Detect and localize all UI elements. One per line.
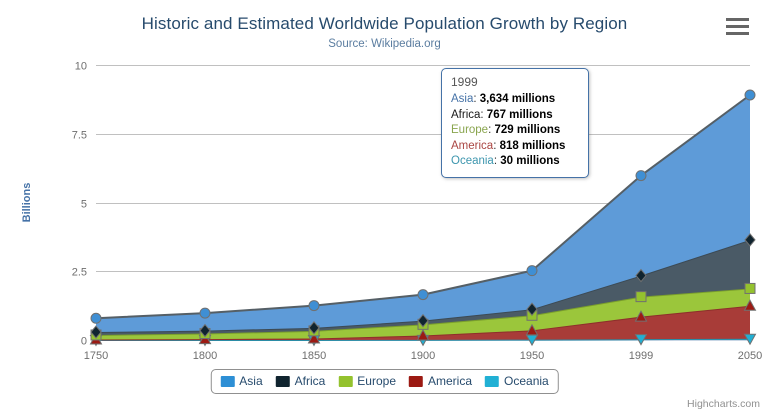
legend-item-europe[interactable]: Europe bbox=[338, 374, 396, 388]
x-axis-tick-label: 2050 bbox=[738, 350, 762, 362]
legend-label: Africa bbox=[295, 374, 326, 388]
x-axis-tick-label: 1750 bbox=[84, 350, 108, 362]
tooltip-series-value: 729 millions bbox=[494, 124, 560, 136]
legend-item-africa[interactable]: Africa bbox=[276, 374, 326, 388]
legend-label: Oceania bbox=[504, 374, 549, 388]
legend-item-asia[interactable]: Asia bbox=[220, 374, 262, 388]
data-point-asia[interactable] bbox=[418, 290, 428, 300]
tooltip-series-value: 3,634 millions bbox=[480, 93, 555, 105]
tooltip-series-name: Europe bbox=[451, 124, 488, 136]
y-axis-tick-label: 10 bbox=[75, 61, 87, 73]
x-axis-tick-label: 1950 bbox=[520, 350, 544, 362]
tooltip-row: Africa: 767 millions bbox=[451, 108, 579, 124]
tooltip-row: America: 818 millions bbox=[451, 139, 579, 155]
legend-swatch-icon bbox=[409, 376, 423, 387]
legend-swatch-icon bbox=[276, 376, 290, 387]
data-point-asia[interactable] bbox=[309, 301, 319, 311]
x-axis-tick-label: 1800 bbox=[193, 350, 217, 362]
legend-swatch-icon bbox=[485, 376, 499, 387]
y-axis-tick-label: 0 bbox=[81, 336, 87, 348]
tooltip-series-name: America bbox=[451, 140, 493, 152]
data-point-asia[interactable] bbox=[200, 308, 210, 318]
legend-item-america[interactable]: America bbox=[409, 374, 472, 388]
tooltip-series-value: 30 millions bbox=[500, 155, 559, 167]
legend-label: Asia bbox=[239, 374, 262, 388]
y-axis-tick-label: 2.5 bbox=[72, 267, 87, 279]
y-axis-tick-label: 7.5 bbox=[72, 130, 87, 142]
chart-container: Historic and Estimated Worldwide Populat… bbox=[0, 0, 769, 416]
tooltip-series-name: Oceania bbox=[451, 155, 494, 167]
x-axis-tick-label: 1850 bbox=[302, 350, 326, 362]
legend-item-oceania[interactable]: Oceania bbox=[485, 374, 549, 388]
tooltip-row: Asia: 3,634 millions bbox=[451, 92, 579, 108]
tooltip-series-name: Africa bbox=[451, 109, 480, 121]
x-axis-tick-label: 1999 bbox=[629, 350, 653, 362]
y-axis-title: Billions bbox=[21, 183, 33, 223]
tooltip-rows: Asia: 3,634 millionsAfrica: 767 millions… bbox=[451, 92, 579, 170]
highcharts-credits[interactable]: Highcharts.com bbox=[687, 398, 760, 410]
data-point-asia[interactable] bbox=[91, 313, 101, 323]
legend-label: Europe bbox=[357, 374, 396, 388]
tooltip-series-value: 818 millions bbox=[500, 140, 566, 152]
legend-swatch-icon bbox=[338, 376, 352, 387]
x-axis-tick-label: 1900 bbox=[411, 350, 435, 362]
data-point-asia[interactable] bbox=[745, 90, 755, 100]
plot-area: 02.557.510Billions1750180018501900195019… bbox=[0, 0, 769, 416]
data-point-europe[interactable] bbox=[745, 283, 755, 293]
chart-legend: AsiaAfricaEuropeAmericaOceania bbox=[210, 369, 558, 394]
chart-tooltip: 1999 Asia: 3,634 millionsAfrica: 767 mil… bbox=[441, 68, 589, 178]
y-axis-tick-label: 5 bbox=[81, 199, 87, 211]
tooltip-header: 1999 bbox=[451, 75, 579, 90]
legend-label: America bbox=[428, 374, 472, 388]
legend-swatch-icon bbox=[220, 376, 234, 387]
data-point-asia[interactable] bbox=[636, 171, 646, 181]
tooltip-row: Oceania: 30 millions bbox=[451, 154, 579, 170]
data-point-europe[interactable] bbox=[636, 292, 646, 302]
tooltip-series-name: Asia bbox=[451, 93, 473, 105]
tooltip-series-value: 767 millions bbox=[487, 109, 553, 121]
data-point-asia[interactable] bbox=[527, 266, 537, 276]
tooltip-row: Europe: 729 millions bbox=[451, 123, 579, 139]
